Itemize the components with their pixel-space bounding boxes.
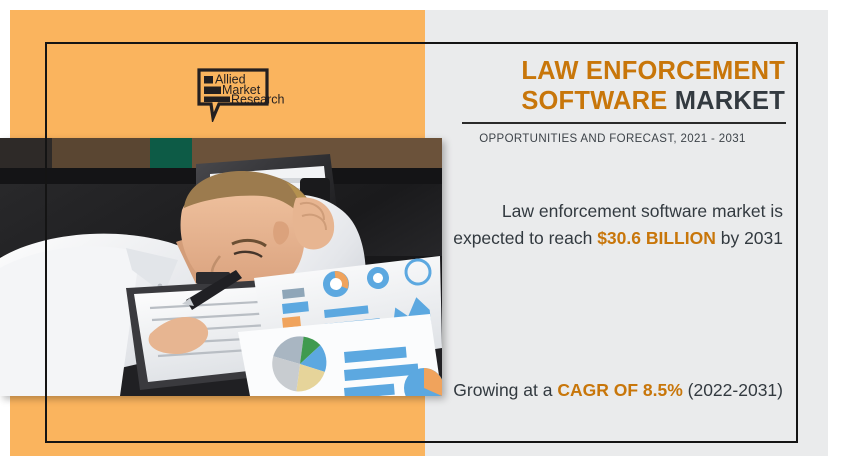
cagr-statement: Growing at a CAGR OF 8.5% (2022-2031) bbox=[438, 376, 783, 404]
cagr-trail: (2022-2031) bbox=[683, 380, 783, 400]
subtitle: OPPORTUNITIES AND FORECAST, 2021 - 2031 bbox=[440, 133, 785, 145]
page-title: LAW ENFORCEMENT SOFTWARE MARKET bbox=[440, 56, 785, 116]
title-divider bbox=[462, 122, 786, 124]
analyst-reviewing-reports-photo bbox=[0, 138, 442, 396]
cagr-lead: Growing at a bbox=[453, 380, 557, 400]
title-accent-2: SOFTWARE bbox=[521, 87, 667, 115]
title-accent-1: LAW ENFORCEMENT bbox=[521, 57, 785, 85]
infographic-banner: Allied Market Research LAW ENFORCEMENT S… bbox=[0, 0, 847, 470]
title-line-1: LAW ENFORCEMENT bbox=[440, 56, 785, 86]
title-plain-2: MARKET bbox=[675, 87, 785, 115]
svg-text:Research: Research bbox=[231, 93, 285, 107]
cagr-highlight: CAGR OF 8.5% bbox=[557, 380, 682, 400]
market-value-highlight: $30.6 BILLION bbox=[597, 228, 716, 248]
title-line-2: SOFTWARE MARKET bbox=[440, 86, 785, 116]
market-value-trail: by 2031 bbox=[716, 228, 783, 248]
allied-market-research-logo: Allied Market Research bbox=[197, 68, 285, 122]
market-value-statement: Law enforcement software market is expec… bbox=[438, 198, 783, 252]
